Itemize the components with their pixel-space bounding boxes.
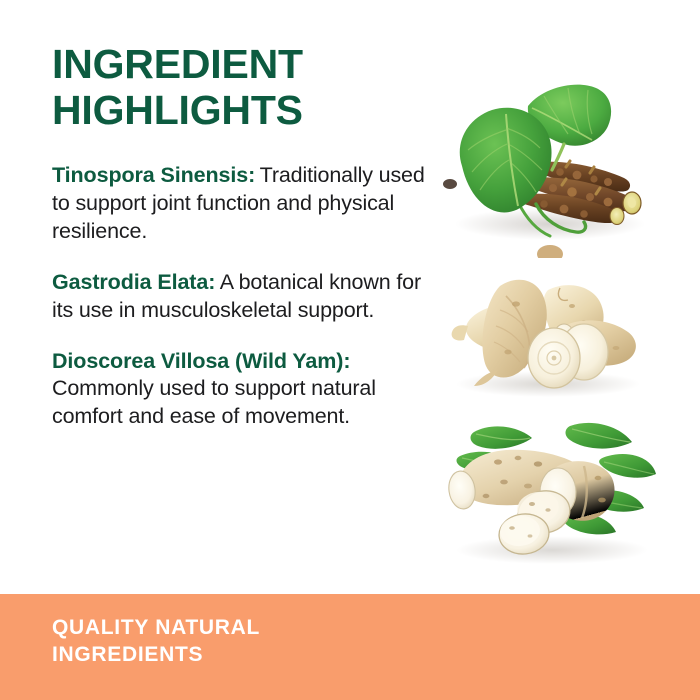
- bottom-banner: QUALITY NATURAL INGREDIENTS: [0, 594, 700, 700]
- wild-yam-photo: [440, 404, 660, 564]
- tinospora-photo: [432, 72, 664, 258]
- banner-line-2: INGREDIENTS: [52, 642, 260, 669]
- page-title: INGREDIENT HIGHLIGHTS: [52, 42, 442, 134]
- page-title-line-2: HIGHLIGHTS: [52, 88, 442, 134]
- ingredient-name-wild-yam: Dioscorea Villosa (Wild Yam):: [52, 349, 350, 373]
- ingredient-block-wild-yam: Dioscorea Villosa (Wild Yam): Commonly u…: [52, 348, 442, 431]
- ingredient-name-gastrodia: Gastrodia Elata:: [52, 270, 215, 294]
- banner-text: QUALITY NATURAL INGREDIENTS: [52, 615, 260, 669]
- gastrodia-photo: [444, 266, 656, 398]
- ingredient-name-tinospora: Tinospora Sinensis:: [52, 163, 255, 187]
- ingredient-block-gastrodia: Gastrodia Elata: A botanical known for i…: [52, 269, 442, 325]
- ingredient-description-wild-yam: Commonly used to support natural comfort…: [52, 376, 376, 428]
- ingredient-block-tinospora: Tinospora Sinensis: Traditionally used t…: [52, 162, 442, 246]
- photo-shadow: [456, 536, 648, 564]
- banner-line-1: QUALITY NATURAL: [52, 615, 260, 642]
- page-title-line-1: INGREDIENT: [52, 42, 442, 88]
- debris: [443, 179, 457, 189]
- text-column: INGREDIENT HIGHLIGHTS Tinospora Sinensis…: [52, 42, 442, 431]
- tuber-peek: [537, 245, 563, 258]
- ingredient-highlights-card: INGREDIENT HIGHLIGHTS Tinospora Sinensis…: [0, 0, 700, 700]
